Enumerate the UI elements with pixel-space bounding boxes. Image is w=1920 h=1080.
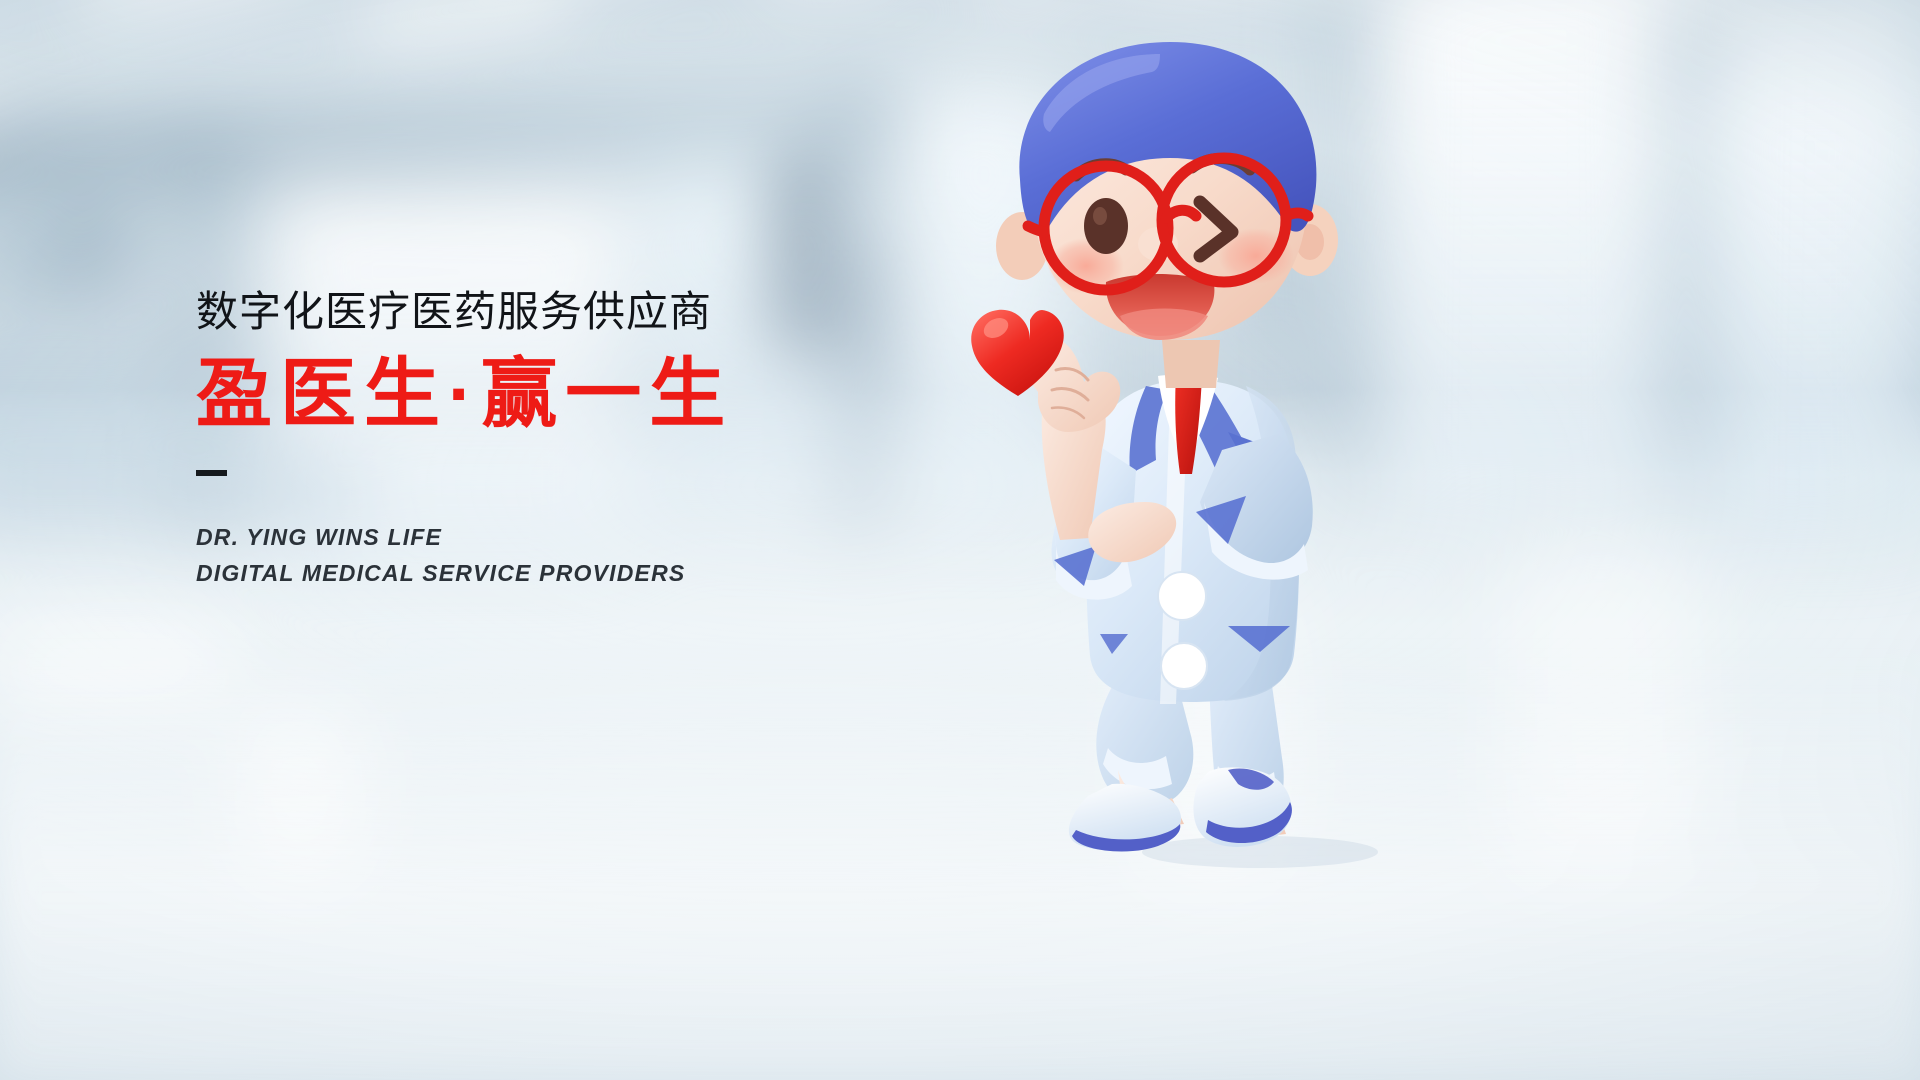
hero-english-subtitle: DR. YING WINS LIFE DIGITAL MEDICAL SERVI… [196,520,956,591]
english-line-1: DR. YING WINS LIFE [196,520,956,556]
title-divider-dash [196,470,227,476]
character-neck [1162,340,1220,388]
left-eye-open [1084,198,1128,254]
hero-headline: 数字化医疗医药服务供应商 [196,288,956,336]
hero-banner: 数字化医疗医药服务供应商 盈医生·赢一生 DR. YING WINS LIFE … [0,0,1920,1080]
character-head [996,42,1338,340]
hero-copy: 数字化医疗医药服务供应商 盈医生·赢一生 DR. YING WINS LIFE … [196,288,956,592]
english-line-2: DIGITAL MEDICAL SERVICE PROVIDERS [196,556,956,592]
hero-main-title: 盈医生·赢一生 [196,354,956,436]
cartoon-doctor-mascot [960,40,1580,870]
